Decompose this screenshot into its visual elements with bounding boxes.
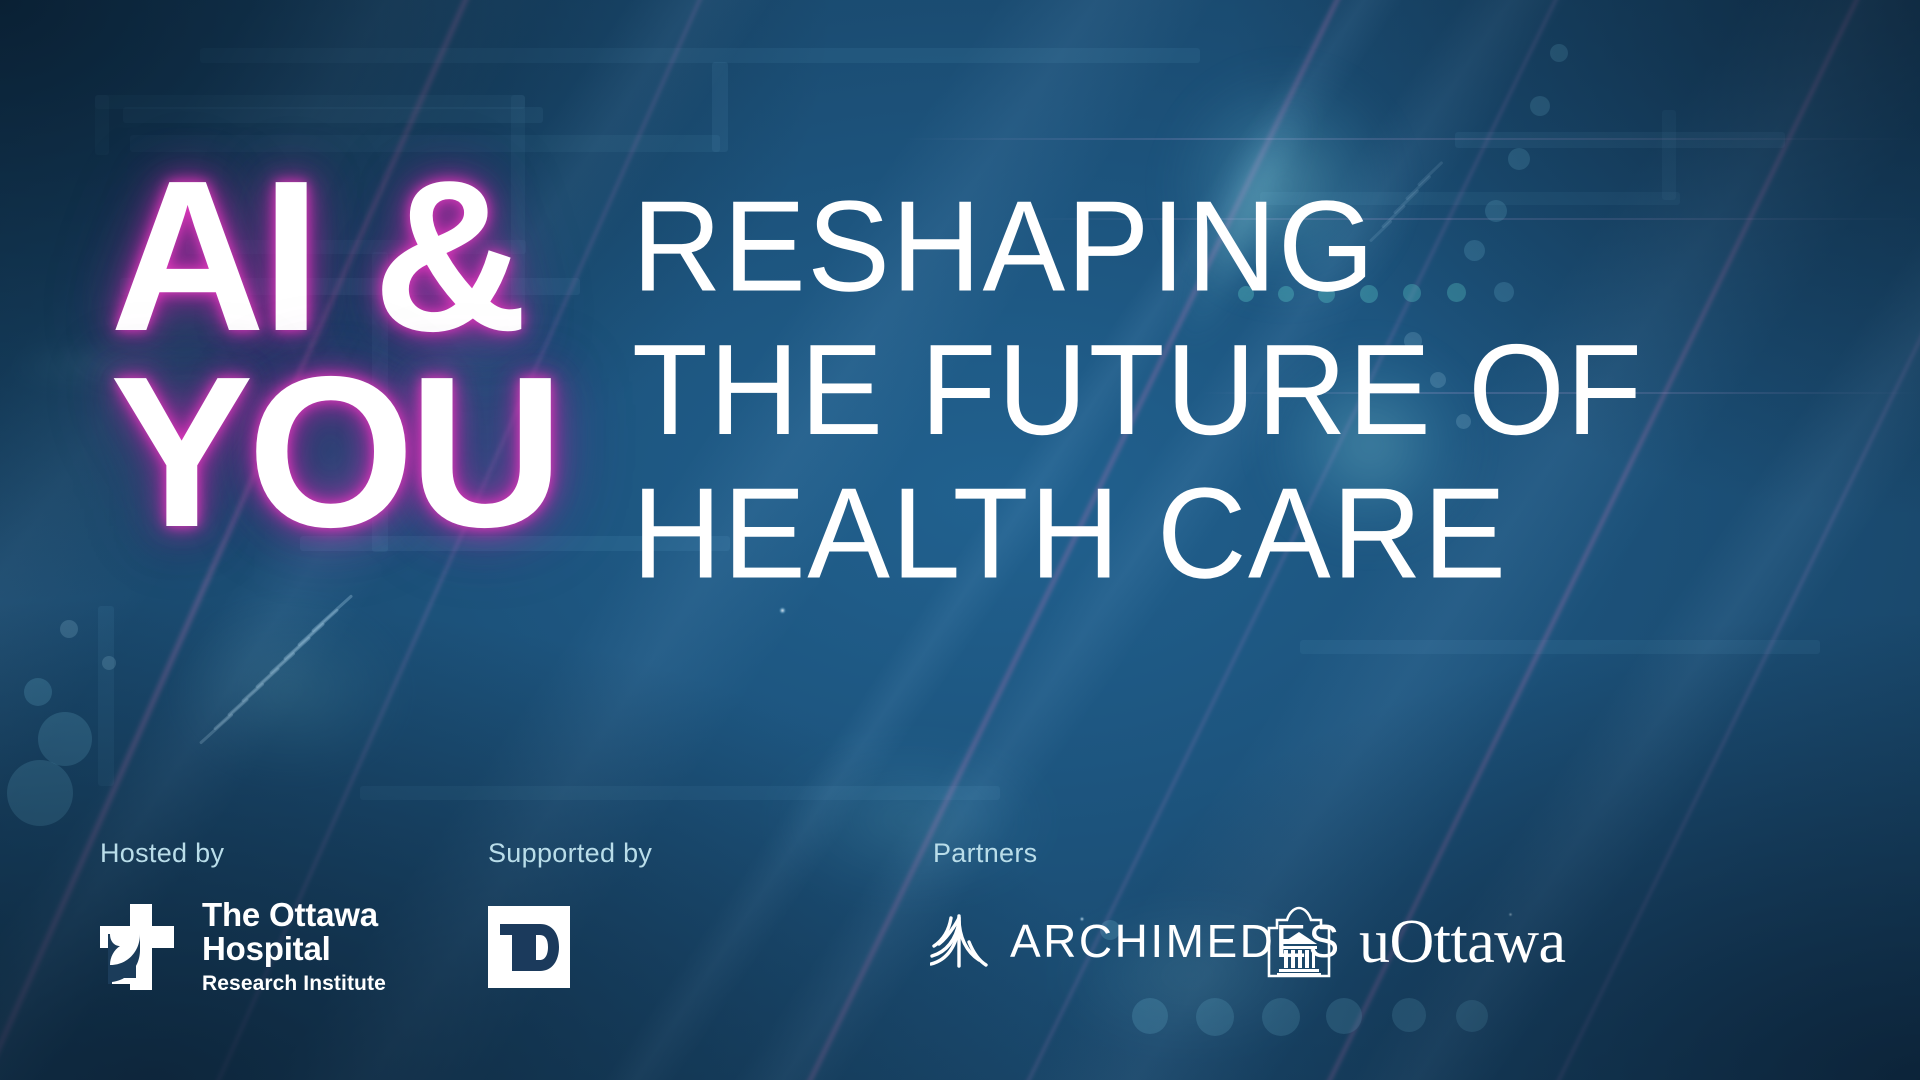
sponsor-group-partners: Partners [933, 838, 1037, 869]
hosted-by-label: Hosted by [100, 838, 224, 869]
event-brand-lockup: AI & YOU [110, 158, 580, 550]
td-bank-logo [488, 906, 570, 988]
headline-line-2: THE FUTURE OF [632, 319, 1872, 463]
sponsor-group-supported-by: Supported by [488, 838, 652, 869]
toh-line-1: The Ottawa [202, 898, 386, 932]
uottawa-wordmark: uOttawa [1359, 911, 1566, 973]
headline-line-3: HEALTH CARE [632, 462, 1872, 606]
archimedes-arch-icon [930, 912, 988, 970]
sponsor-footer: Hosted by The Ottawa Hospital Research I… [0, 838, 1920, 1080]
page-title: RESHAPING THE FUTURE OF HEALTH CARE [632, 175, 1872, 606]
supported-by-label: Supported by [488, 838, 652, 869]
uottawa-logo: uOttawa [1265, 904, 1566, 980]
the-ottawa-hospital-research-institute-logo: The Ottawa Hospital Research Institute [100, 898, 386, 996]
td-square-icon [488, 906, 570, 988]
sponsor-group-hosted-by: Hosted by [100, 838, 224, 869]
poster-canvas: AI & YOU RESHAPING THE FUTURE OF HEALTH … [0, 0, 1920, 1080]
toh-line-3: Research Institute [202, 972, 386, 996]
toh-line-2: Hospital [202, 932, 386, 966]
headline-line-1: RESHAPING [632, 175, 1872, 319]
lockup-line-1: AI & [110, 158, 580, 354]
uottawa-crest-icon [1265, 904, 1333, 980]
toh-wordmark: The Ottawa Hospital Research Institute [202, 898, 386, 996]
partners-label: Partners [933, 838, 1037, 869]
hospital-cross-icon [100, 904, 182, 990]
lockup-line-2: YOU [110, 354, 580, 550]
